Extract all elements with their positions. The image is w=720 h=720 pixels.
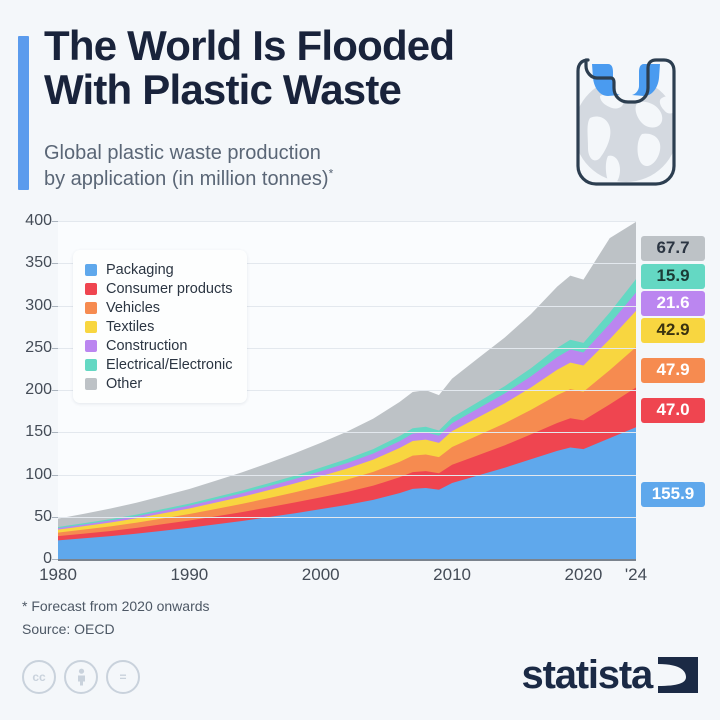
- x-axis-label: 2020: [565, 565, 603, 585]
- subtitle-line-2-wrap: by application (in million tonnes)*: [44, 166, 474, 192]
- end-value-badge: 15.9: [641, 264, 705, 289]
- end-value-badge: 155.9: [641, 482, 705, 507]
- legend-swatch-icon: [85, 378, 97, 390]
- x-axis-label: '24: [625, 565, 647, 585]
- legend-item[interactable]: Construction: [85, 336, 233, 355]
- creative-commons-icons[interactable]: cc =: [22, 660, 140, 694]
- y-axis-tick: [52, 306, 58, 307]
- y-axis-label: 350: [8, 254, 52, 272]
- legend-swatch-icon: [85, 264, 97, 276]
- source-footnote: Source: OECD: [22, 621, 115, 637]
- subtitle-line-1: Global plastic waste production: [44, 140, 474, 166]
- legend-swatch-icon: [85, 283, 97, 295]
- gridline: [58, 475, 636, 476]
- y-axis-label: 100: [8, 466, 52, 484]
- legend-swatch-icon: [85, 321, 97, 333]
- legend-swatch-icon: [85, 359, 97, 371]
- y-axis-label: 250: [8, 339, 52, 357]
- statista-logo[interactable]: statista: [522, 655, 700, 695]
- chart-x-axis-line: [58, 559, 636, 561]
- forecast-footnote: * Forecast from 2020 onwards: [22, 598, 210, 614]
- title-line-1: The World Is Flooded: [44, 24, 514, 68]
- y-axis-label: 200: [8, 381, 52, 399]
- x-axis-label: 2010: [433, 565, 471, 585]
- title-accent-bar: [18, 36, 29, 190]
- y-axis-label: 150: [8, 423, 52, 441]
- cc-nd-equals-icon[interactable]: =: [106, 660, 140, 694]
- legend-swatch-icon: [85, 340, 97, 352]
- page-subtitle: Global plastic waste production by appli…: [44, 140, 474, 193]
- x-axis-label: 2000: [302, 565, 340, 585]
- legend-item[interactable]: Packaging: [85, 260, 233, 279]
- plastic-bag-icon: [556, 38, 696, 198]
- cc-icon[interactable]: cc: [22, 660, 56, 694]
- chart-legend[interactable]: PackagingConsumer productsVehiclesTextil…: [73, 250, 247, 403]
- y-axis-tick: [52, 221, 58, 222]
- cc-by-person-icon[interactable]: [64, 660, 98, 694]
- legend-item[interactable]: Consumer products: [85, 279, 233, 298]
- legend-label: Textiles: [106, 319, 154, 335]
- y-axis-label: 300: [8, 297, 52, 315]
- y-axis-tick: [52, 475, 58, 476]
- legend-item[interactable]: Vehicles: [85, 298, 233, 317]
- globe-graphic: [574, 78, 678, 185]
- legend-swatch-icon: [85, 302, 97, 314]
- end-value-badge: 47.0: [641, 398, 705, 423]
- legend-label: Other: [106, 376, 142, 392]
- y-axis-label: 50: [8, 508, 52, 526]
- y-axis-tick: [52, 432, 58, 433]
- end-value-badge: 67.7: [641, 236, 705, 261]
- y-axis-tick: [52, 390, 58, 391]
- x-axis-label: 1980: [39, 565, 77, 585]
- statista-mark-icon: [656, 655, 700, 695]
- y-axis-tick: [52, 517, 58, 518]
- gridline: [58, 221, 636, 222]
- legend-item[interactable]: Electrical/Electronic: [85, 355, 233, 374]
- y-axis-label: 400: [8, 212, 52, 230]
- legend-label: Electrical/Electronic: [106, 357, 233, 373]
- infographic-root: The World Is Flooded With Plastic Waste …: [0, 0, 720, 720]
- end-value-badge: 47.9: [641, 358, 705, 383]
- page-title: The World Is Flooded With Plastic Waste: [44, 24, 514, 111]
- legend-label: Vehicles: [106, 300, 160, 316]
- statista-wordmark: statista: [522, 655, 652, 695]
- title-line-2: With Plastic Waste: [44, 68, 514, 112]
- end-value-badge: 21.6: [641, 291, 705, 316]
- legend-item[interactable]: Textiles: [85, 317, 233, 336]
- legend-label: Construction: [106, 338, 187, 354]
- x-axis-label: 1990: [170, 565, 208, 585]
- subtitle-asterisk: *: [329, 167, 334, 181]
- end-value-badge: 42.9: [641, 318, 705, 343]
- y-axis-tick: [52, 263, 58, 264]
- y-axis-tick: [52, 348, 58, 349]
- gridline: [58, 517, 636, 518]
- legend-item[interactable]: Other: [85, 374, 233, 393]
- legend-label: Consumer products: [106, 281, 233, 297]
- legend-label: Packaging: [106, 262, 174, 278]
- gridline: [58, 432, 636, 433]
- subtitle-line-2: by application (in million tonnes): [44, 168, 329, 190]
